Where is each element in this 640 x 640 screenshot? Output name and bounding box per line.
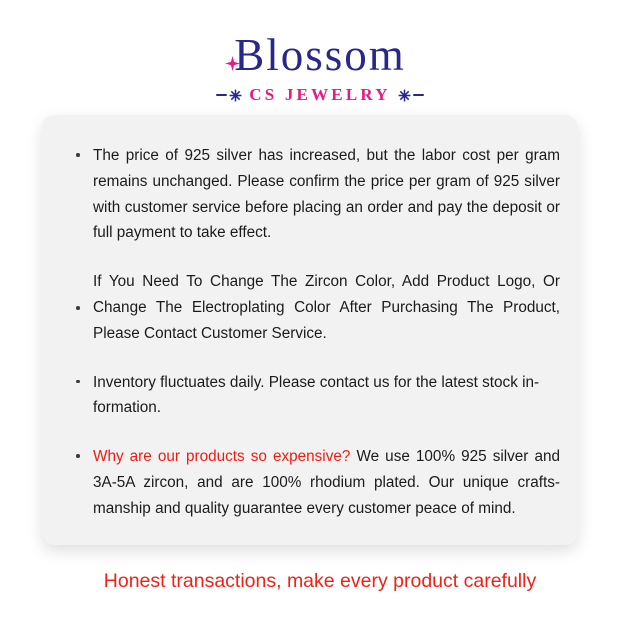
bullet-dot-icon	[76, 153, 80, 157]
list-item: Inventory fluctuates daily. Please conta…	[60, 370, 560, 422]
bullet-dot-icon	[76, 306, 80, 310]
bullet-dot-icon	[76, 454, 80, 458]
ornament-left	[216, 89, 242, 102]
notice-card: The price of 925 silver has increased, b…	[42, 115, 578, 545]
ornament-dash-left-icon	[216, 94, 227, 96]
list-item: The price of 925 silver has increased, b…	[60, 143, 560, 246]
snowflake-right-icon	[398, 89, 411, 102]
brand-header: Blossom CS JEWELRY	[0, 30, 640, 105]
brand-name-text: Blossom	[234, 30, 406, 80]
notice-list: The price of 925 silver has increased, b…	[60, 143, 560, 522]
ornament-dash-right-icon	[413, 94, 424, 96]
list-item: If You Need To Change The Zircon Color, …	[60, 269, 560, 346]
list-item: Why are our products so expensive? We us…	[60, 444, 560, 521]
notice-text-customization: If You Need To Change The Zircon Color, …	[93, 269, 560, 346]
notice-text-inventory: Inventory fluctuates daily. Please conta…	[93, 370, 560, 422]
brand-wordmark: Blossom	[234, 30, 406, 80]
footer-tagline: Honest transactions, make every product …	[0, 568, 640, 594]
notice-highlight-question: Why are our products so expensive?	[93, 448, 350, 465]
snowflake-left-icon	[229, 89, 242, 102]
bullet-dot-icon	[76, 380, 80, 384]
notice-text-pricing: Why are our products so expensive? We us…	[93, 444, 560, 521]
notice-text-price: The price of 925 silver has increased, b…	[93, 143, 560, 246]
brand-subtitle-row: CS JEWELRY	[0, 85, 640, 105]
brand-tagline-text: CS JEWELRY	[249, 85, 390, 105]
ornament-right	[398, 89, 424, 102]
